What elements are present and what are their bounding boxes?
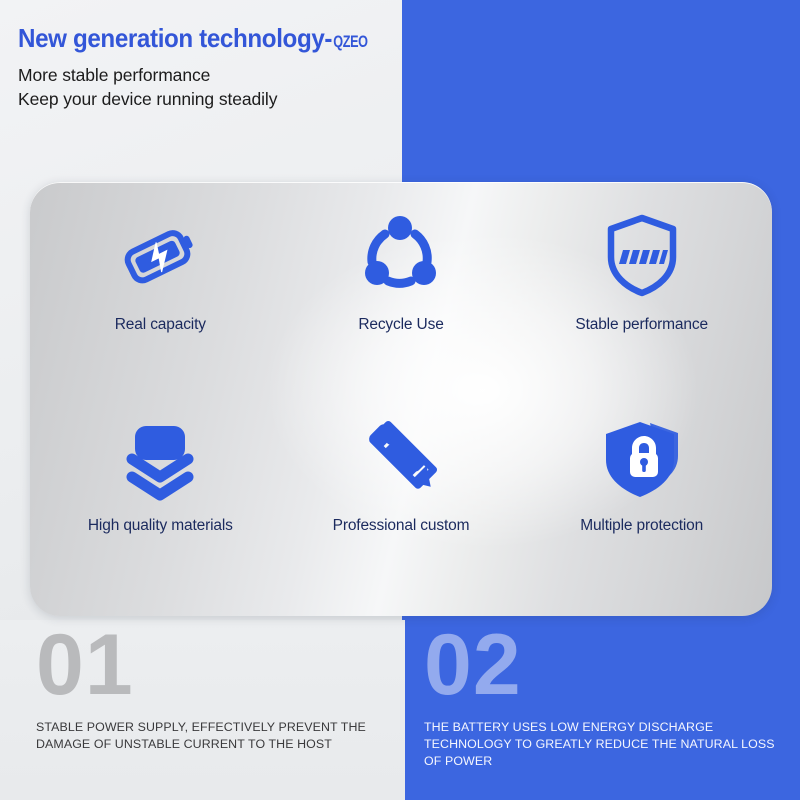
header: New generation technology- QZEO More sta… <box>18 24 408 112</box>
highlight-block-02: 02 THE BATTERY USES LOW ENERGY DISCHARGE… <box>424 626 784 770</box>
highlight-number: 01 <box>36 626 396 705</box>
shield-bars-icon <box>594 200 690 310</box>
feature-label: Multiple protection <box>580 517 703 535</box>
feature-label: Recycle Use <box>358 316 443 334</box>
feature-label: Real capacity <box>115 316 206 334</box>
product-feature-banner: New generation technology- QZEO More sta… <box>0 0 800 800</box>
feature-label: High quality materials <box>88 517 233 535</box>
subheadline-line-2: Keep your device running steadily <box>18 87 408 112</box>
subheadline-line-1: More stable performance <box>18 63 408 88</box>
headline: New generation technology- QZEO <box>18 24 381 53</box>
headline-text: New generation technology- <box>18 24 332 53</box>
highlight-block-01: 01 STABLE POWER SUPPLY, EFFECTIVELY PREV… <box>36 626 396 753</box>
feature-label: Stable performance <box>575 316 708 334</box>
recycle-cycle-icon <box>353 200 449 310</box>
feature-item-professional-custom: Professional custom <box>281 403 522 606</box>
feature-item-recycle-use: Recycle Use <box>281 200 522 403</box>
brand-name: QZEO <box>333 33 367 52</box>
layers-stack-icon <box>112 403 208 511</box>
subheadline: More stable performance Keep your device… <box>18 63 408 113</box>
highlight-number: 02 <box>424 626 784 705</box>
highlight-caption: THE BATTERY USES LOW ENERGY DISCHARGE TE… <box>424 719 784 770</box>
pencil-ruler-icon <box>351 403 451 511</box>
shield-lock-icon <box>594 403 690 511</box>
feature-label: Professional custom <box>333 517 470 535</box>
feature-item-stable-performance: Stable performance <box>521 200 762 403</box>
feature-item-multiple-protection: Multiple protection <box>521 403 762 606</box>
highlight-caption: STABLE POWER SUPPLY, EFFECTIVELY PREVENT… <box>36 719 396 753</box>
feature-card: Real capacity Recycl <box>30 182 772 616</box>
battery-bolt-icon <box>112 200 208 310</box>
feature-grid: Real capacity Recycl <box>30 182 772 616</box>
feature-item-real-capacity: Real capacity <box>40 200 281 403</box>
feature-item-high-quality-materials: High quality materials <box>40 403 281 606</box>
